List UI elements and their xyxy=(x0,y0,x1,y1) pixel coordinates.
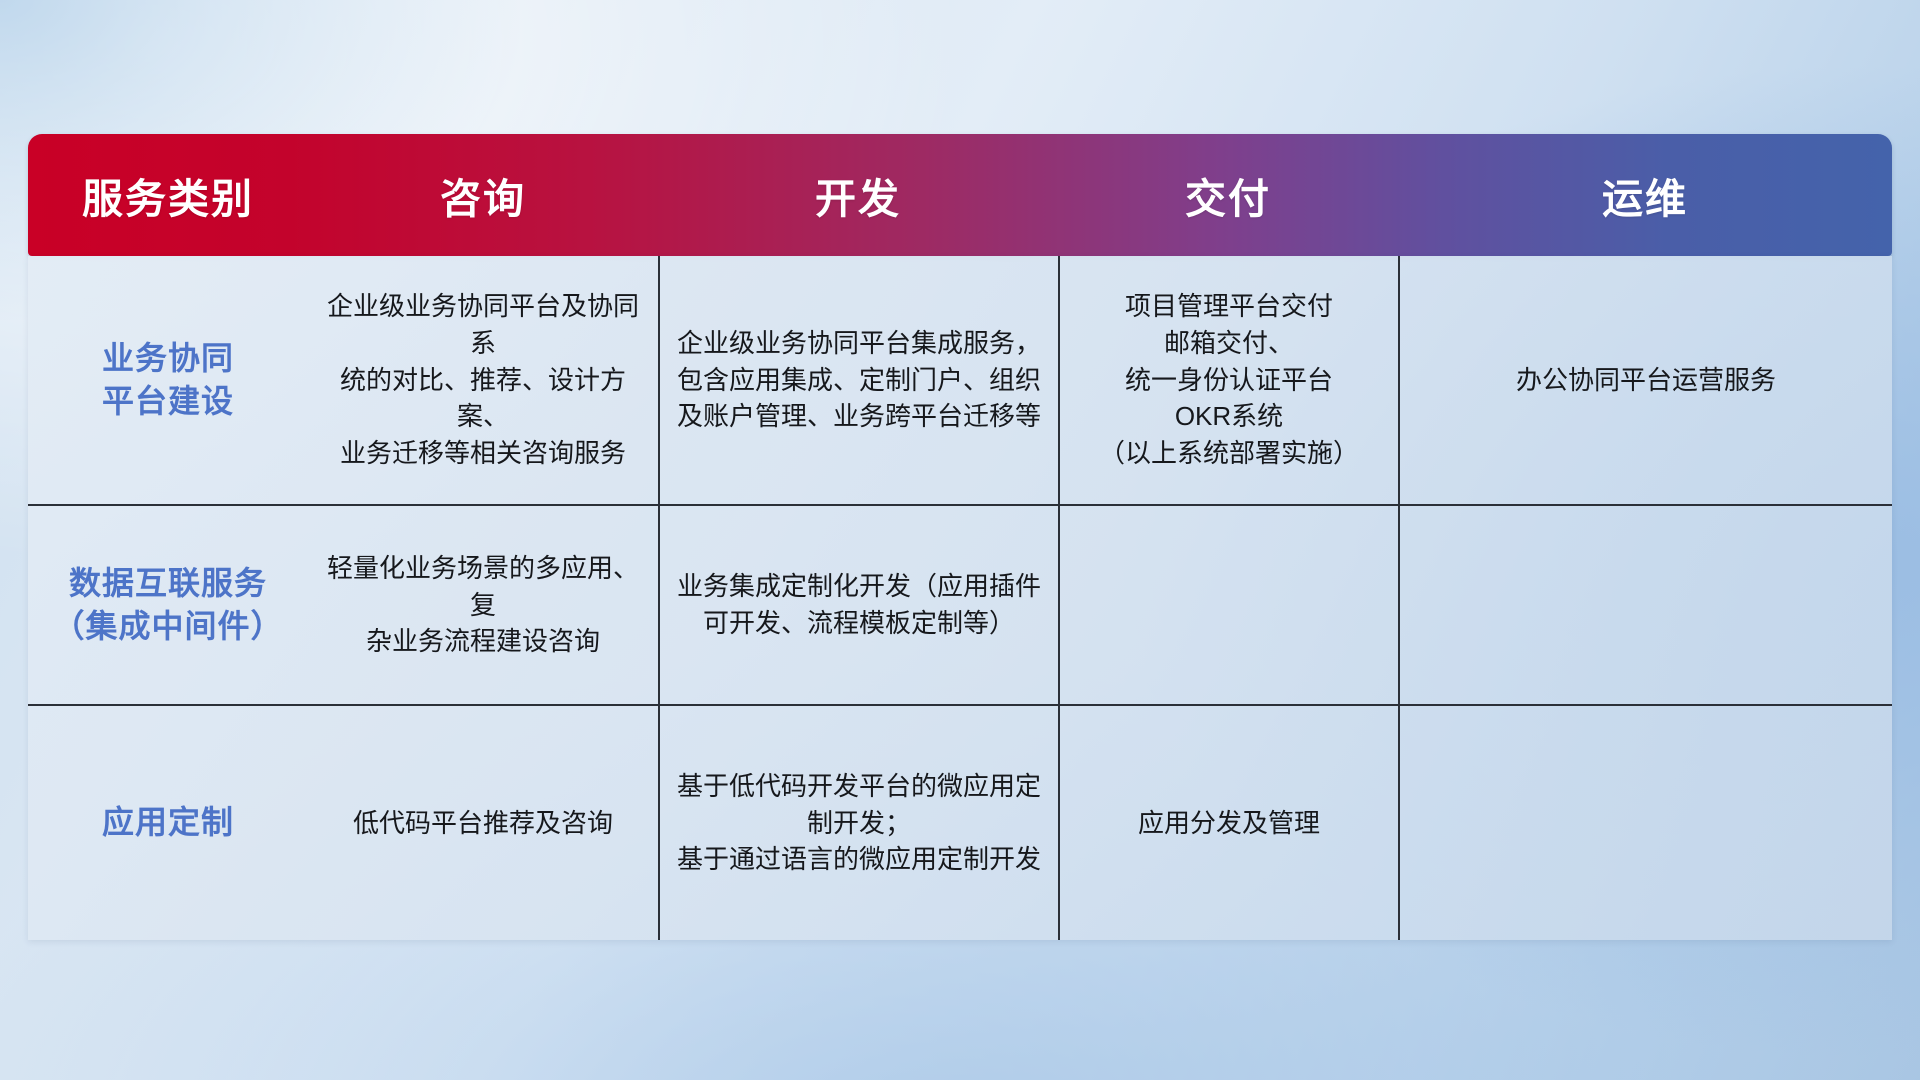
service-matrix-table: 服务类别 咨询 开发 交付 运维 业务协同 平台建设 企业级业务协同平台及协同系… xyxy=(28,134,1892,940)
slide-canvas: 服务类别 咨询 开发 交付 运维 业务协同 平台建设 企业级业务协同平台及协同系… xyxy=(0,0,1920,1080)
table-header-row: 服务类别 咨询 开发 交付 运维 xyxy=(28,134,1892,256)
cell-operations-row2 xyxy=(1398,506,1892,704)
column-header-consulting: 咨询 xyxy=(308,134,658,256)
row-label-application-customization: 应用定制 xyxy=(28,706,308,940)
column-header-development: 开发 xyxy=(658,134,1058,256)
table-row: 数据互联服务 （集成中间件） 轻量化业务场景的多应用、复 杂业务流程建设咨询 业… xyxy=(28,504,1892,704)
cell-operations-row1: 办公协同平台运营服务 xyxy=(1398,256,1892,504)
cell-development-row1: 企业级业务协同平台集成服务， 包含应用集成、定制门户、组织 及账户管理、业务跨平… xyxy=(658,256,1058,504)
cell-consulting-row2: 轻量化业务场景的多应用、复 杂业务流程建设咨询 xyxy=(308,506,658,704)
column-header-operations: 运维 xyxy=(1398,134,1892,256)
cell-development-row3: 基于低代码开发平台的微应用定 制开发； 基于通过语言的微应用定制开发 xyxy=(658,706,1058,940)
row-label-data-interconnection: 数据互联服务 （集成中间件） xyxy=(28,506,308,704)
cell-operations-row3 xyxy=(1398,706,1892,940)
cell-delivery-row2 xyxy=(1058,506,1398,704)
row-label-business-collaboration: 业务协同 平台建设 xyxy=(28,256,308,504)
column-header-delivery: 交付 xyxy=(1058,134,1398,256)
table-row: 应用定制 低代码平台推荐及咨询 基于低代码开发平台的微应用定 制开发； 基于通过… xyxy=(28,704,1892,940)
cell-development-row2: 业务集成定制化开发（应用插件 可开发、流程模板定制等） xyxy=(658,506,1058,704)
cell-consulting-row3: 低代码平台推荐及咨询 xyxy=(308,706,658,940)
table-row: 业务协同 平台建设 企业级业务协同平台及协同系 统的对比、推荐、设计方案、 业务… xyxy=(28,256,1892,504)
cell-delivery-row1: 项目管理平台交付 邮箱交付、 统一身份认证平台 OKR系统 （以上系统部署实施） xyxy=(1058,256,1398,504)
cell-consulting-row1: 企业级业务协同平台及协同系 统的对比、推荐、设计方案、 业务迁移等相关咨询服务 xyxy=(308,256,658,504)
cell-delivery-row3: 应用分发及管理 xyxy=(1058,706,1398,940)
column-header-category: 服务类别 xyxy=(28,134,308,256)
table-body: 业务协同 平台建设 企业级业务协同平台及协同系 统的对比、推荐、设计方案、 业务… xyxy=(28,256,1892,940)
